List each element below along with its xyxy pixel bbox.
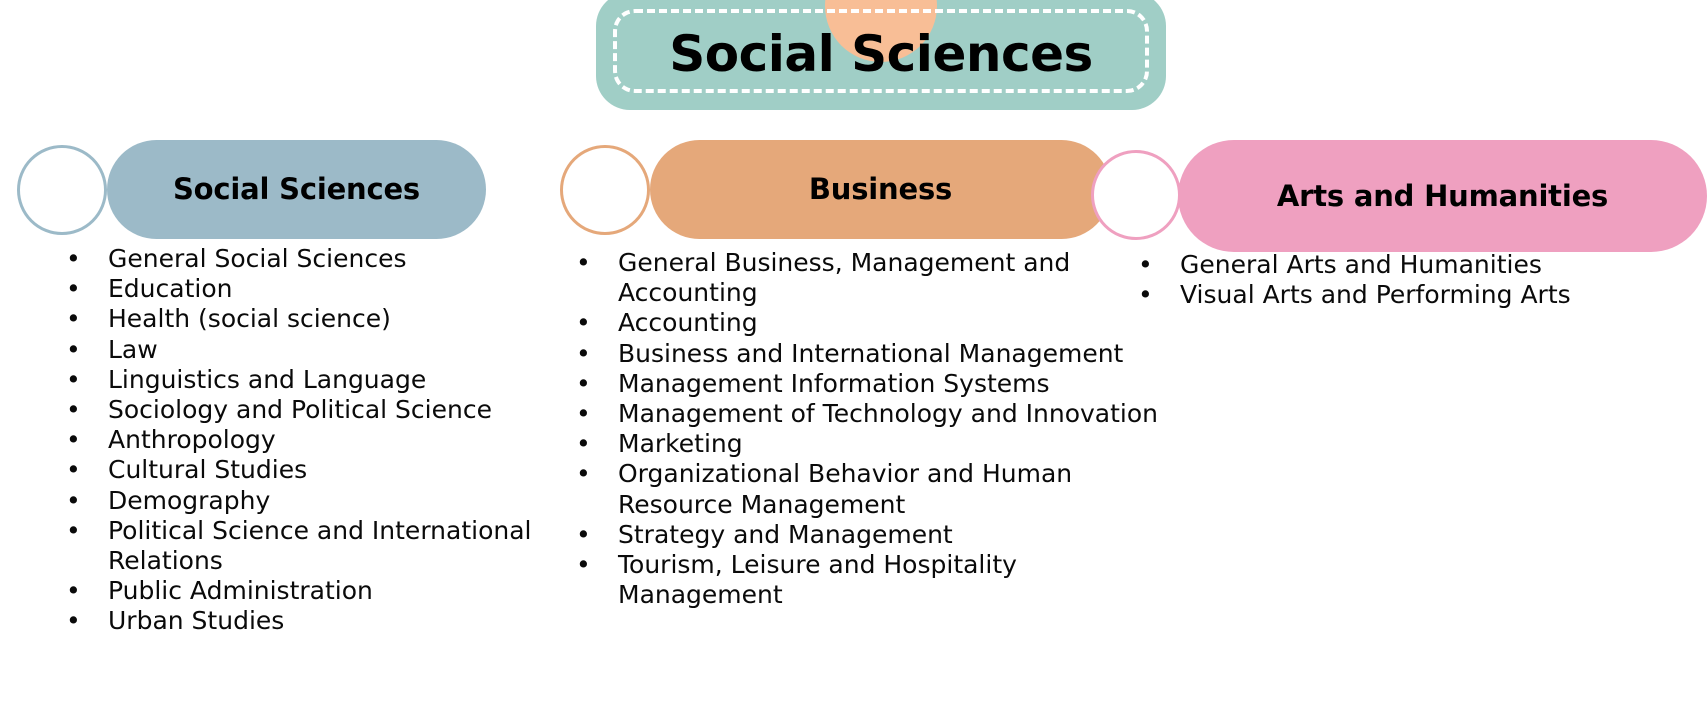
bullet-icon: • — [576, 459, 618, 489]
topic-list-business: •General Business, Management and Accoun… — [576, 248, 1176, 610]
bullet-icon: • — [66, 486, 108, 516]
topic-list-item: •Management Information Systems — [576, 369, 1176, 399]
topic-list-item: •Urban Studies — [66, 606, 546, 636]
bullet-icon: • — [66, 244, 108, 274]
topic-list-item: •Strategy and Management — [576, 520, 1176, 550]
bullet-icon: • — [66, 335, 108, 365]
category-header-arts-and-humanities[interactable]: Arts and Humanities — [1178, 140, 1707, 252]
bullet-marker-circle-icon — [17, 145, 107, 235]
topic-list-item-label: General Social Sciences — [108, 244, 406, 273]
bullet-marker-circle-icon — [1091, 150, 1181, 240]
bullet-icon: • — [66, 365, 108, 395]
topic-list-item-label: Visual Arts and Performing Arts — [1180, 280, 1571, 309]
topic-list-item: •Organizational Behavior and Human Resou… — [576, 459, 1176, 519]
bullet-icon: • — [576, 399, 618, 429]
topic-list-item-label: Political Science and International Rela… — [108, 516, 531, 575]
topic-list-item: •Business and International Management — [576, 339, 1176, 369]
topic-list-item-label: Accounting — [618, 308, 758, 337]
topic-list-item-label: Management of Technology and Innovation — [618, 399, 1158, 428]
bullet-icon: • — [66, 304, 108, 334]
topic-list-item-label: General Business, Management and Account… — [618, 248, 1070, 307]
topic-list-item-label: Business and International Management — [618, 339, 1123, 368]
bullet-icon: • — [576, 339, 618, 369]
topic-list-item: •General Social Sciences — [66, 244, 546, 274]
bullet-icon: • — [1138, 250, 1180, 280]
topic-list-item: •Public Administration — [66, 576, 546, 606]
topic-list-item: •Marketing — [576, 429, 1176, 459]
topic-list-item-label: Education — [108, 274, 232, 303]
topic-list-item: •Anthropology — [66, 425, 546, 455]
topic-list-item-label: Urban Studies — [108, 606, 284, 635]
topic-list-item-label: Anthropology — [108, 425, 276, 454]
bullet-icon: • — [576, 429, 618, 459]
bullet-icon: • — [66, 274, 108, 304]
topic-list-item: •Tourism, Leisure and Hospitality Manage… — [576, 550, 1176, 610]
diagram-title-banner: Social Sciences — [596, 0, 1166, 110]
topic-list-item: •General Arts and Humanities — [1138, 250, 1698, 280]
bullet-marker-circle-icon — [560, 145, 650, 235]
topic-list-item: •Sociology and Political Science — [66, 395, 546, 425]
topic-list-item: •Management of Technology and Innovation — [576, 399, 1176, 429]
bullet-icon: • — [576, 248, 618, 278]
topic-list-item: •Linguistics and Language — [66, 365, 546, 395]
topic-list-item: •General Business, Management and Accoun… — [576, 248, 1176, 308]
topic-list-item: •Accounting — [576, 308, 1176, 338]
topic-list-item-label: Health (social science) — [108, 304, 391, 333]
topic-list-item: •Demography — [66, 486, 546, 516]
topic-list-item-label: Tourism, Leisure and Hospitality Managem… — [618, 550, 1017, 609]
bullet-icon: • — [66, 425, 108, 455]
topic-list-item-label: Marketing — [618, 429, 743, 458]
category-header-label: Business — [795, 173, 966, 205]
topic-list-item: •Health (social science) — [66, 304, 546, 334]
topic-list-item-label: Sociology and Political Science — [108, 395, 492, 424]
topic-list-item-label: Public Administration — [108, 576, 373, 605]
bullet-icon: • — [66, 576, 108, 606]
topic-list-arts-and-humanities: •General Arts and Humanities•Visual Arts… — [1138, 250, 1698, 310]
category-header-business[interactable]: Business — [650, 140, 1111, 239]
bullet-icon: • — [66, 606, 108, 636]
topic-list-item: •Visual Arts and Performing Arts — [1138, 280, 1698, 310]
topic-list-item: •Cultural Studies — [66, 455, 546, 485]
bullet-icon: • — [576, 369, 618, 399]
category-header-label: Arts and Humanities — [1263, 180, 1622, 212]
topic-list-item-label: Organizational Behavior and Human Resour… — [618, 459, 1072, 518]
topic-list-item: •Political Science and International Rel… — [66, 516, 546, 576]
topic-list-social-sciences: •General Social Sciences•Education•Healt… — [66, 244, 546, 637]
topic-list-item-label: Management Information Systems — [618, 369, 1050, 398]
topic-list-item: •Education — [66, 274, 546, 304]
topic-list-item-label: General Arts and Humanities — [1180, 250, 1542, 279]
topic-list-item-label: Law — [108, 335, 158, 364]
category-header-label: Social Sciences — [159, 173, 434, 205]
bullet-icon: • — [576, 308, 618, 338]
topic-list-item: •Law — [66, 335, 546, 365]
category-header-social-sciences[interactable]: Social Sciences — [107, 140, 486, 239]
bullet-icon: • — [576, 550, 618, 580]
bullet-icon: • — [66, 455, 108, 485]
bullet-icon: • — [66, 395, 108, 425]
bullet-icon: • — [1138, 280, 1180, 310]
topic-list-item-label: Demography — [108, 486, 270, 515]
page-title: Social Sciences — [596, 25, 1166, 83]
bullet-icon: • — [576, 520, 618, 550]
topic-list-item-label: Cultural Studies — [108, 455, 307, 484]
topic-list-item-label: Strategy and Management — [618, 520, 953, 549]
bullet-icon: • — [66, 516, 108, 546]
topic-list-item-label: Linguistics and Language — [108, 365, 426, 394]
